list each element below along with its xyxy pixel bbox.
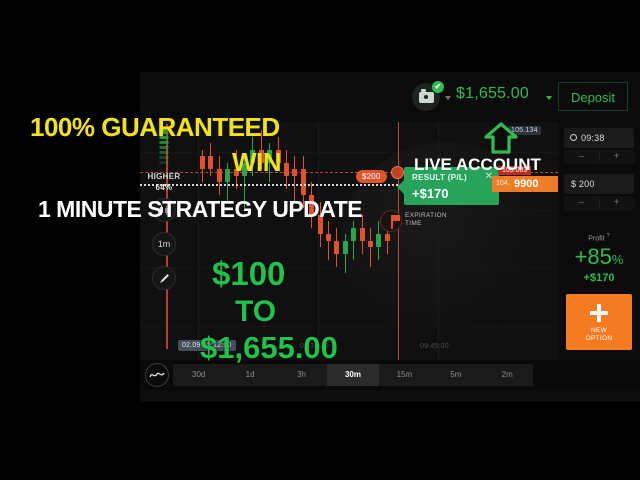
trade-amount-marker: $200 bbox=[356, 170, 387, 183]
timeframe-option-1d[interactable]: 1d bbox=[224, 364, 275, 386]
expiration-flag-icon bbox=[380, 210, 402, 232]
promo-headline-2: WIN bbox=[232, 147, 281, 178]
new-option-button[interactable]: NEWOPTION bbox=[566, 294, 632, 350]
amount-minus-button[interactable]: – bbox=[564, 197, 599, 208]
clock-icon bbox=[570, 134, 577, 141]
timeframe-option-30m[interactable]: 30m bbox=[327, 364, 378, 386]
amount-stepper[interactable]: – + bbox=[564, 196, 634, 210]
result-badge-value: +$170 bbox=[412, 186, 449, 201]
time-minus-button[interactable]: – bbox=[564, 151, 599, 162]
time-stepper[interactable]: – + bbox=[564, 150, 634, 164]
trade-panel: 09:38 – + $ 200 – + Profit ? +85% +$170 … bbox=[558, 122, 640, 360]
timeframe-options[interactable]: 30d1d3h30m15m5m2m bbox=[173, 364, 533, 386]
up-arrow-icon bbox=[484, 122, 518, 154]
amount-plus-button[interactable]: + bbox=[599, 197, 634, 208]
growth-from-text: $100 bbox=[212, 255, 285, 293]
current-price-label: 104. 9900 bbox=[492, 176, 558, 192]
expiration-label: EXPIRATION TIME bbox=[405, 212, 447, 228]
amount-field[interactable]: $ 200 bbox=[564, 174, 634, 194]
profit-amount: +$170 bbox=[558, 272, 640, 284]
verified-badge-icon: ✔ bbox=[432, 81, 444, 93]
current-price-prefix: 104. bbox=[496, 180, 510, 187]
sentiment-percent: 64% bbox=[144, 183, 184, 192]
grid-line-vertical bbox=[198, 122, 199, 360]
time-tick-label: 09:45:00 bbox=[420, 343, 449, 350]
expiration-time-field[interactable]: 09:38 bbox=[564, 128, 634, 148]
timeframe-option-2m[interactable]: 2m bbox=[482, 364, 533, 386]
amount-value: $ 200 bbox=[571, 179, 595, 189]
promo-headline-1: 100% GUARANTEED bbox=[30, 112, 280, 143]
balance-chevron-down-icon[interactable] bbox=[546, 96, 552, 100]
grid-line-horizontal bbox=[140, 268, 558, 269]
account-chevron-down-icon[interactable] bbox=[445, 96, 451, 100]
trade-entry-dot-icon bbox=[391, 166, 404, 179]
sentiment-direction: HIGHER bbox=[144, 172, 184, 181]
time-plus-button[interactable]: + bbox=[599, 151, 634, 162]
timeframe-option-30d[interactable]: 30d bbox=[173, 364, 224, 386]
timeframe-option-15m[interactable]: 15m bbox=[379, 364, 430, 386]
profit-label: Profit ? bbox=[558, 233, 640, 242]
balance-amount[interactable]: $1,655.00 bbox=[456, 85, 529, 103]
new-option-label: NEWOPTION bbox=[566, 327, 632, 343]
profit-percent: +85% bbox=[558, 244, 640, 270]
current-price-main: 9900 bbox=[514, 178, 538, 190]
expiration-vertical-line bbox=[398, 122, 399, 360]
chart-logo-icon[interactable] bbox=[145, 363, 169, 387]
expiration-marker: EXPIRATION TIME bbox=[380, 210, 470, 236]
screenshot-root: ✔ $1,655.00 Deposit 105.134 105.1 $2 bbox=[0, 0, 640, 480]
expiration-time-value: 09:38 bbox=[581, 133, 605, 143]
growth-to-text: $1,655.00 bbox=[200, 330, 338, 366]
growth-to-word: TO bbox=[235, 295, 276, 329]
grid-line-horizontal bbox=[140, 326, 558, 327]
live-account-label: LIVE ACCOUNT bbox=[414, 155, 541, 175]
timeframe-tool-button[interactable]: 1m bbox=[152, 232, 176, 256]
deposit-button[interactable]: Deposit bbox=[558, 82, 628, 111]
pencil-icon[interactable] bbox=[152, 266, 176, 290]
timeframe-option-5m[interactable]: 5m bbox=[430, 364, 481, 386]
promo-headline-3: 1 MINUTE STRATEGY UPDATE bbox=[38, 196, 362, 223]
timeframe-option-3h[interactable]: 3h bbox=[276, 364, 327, 386]
